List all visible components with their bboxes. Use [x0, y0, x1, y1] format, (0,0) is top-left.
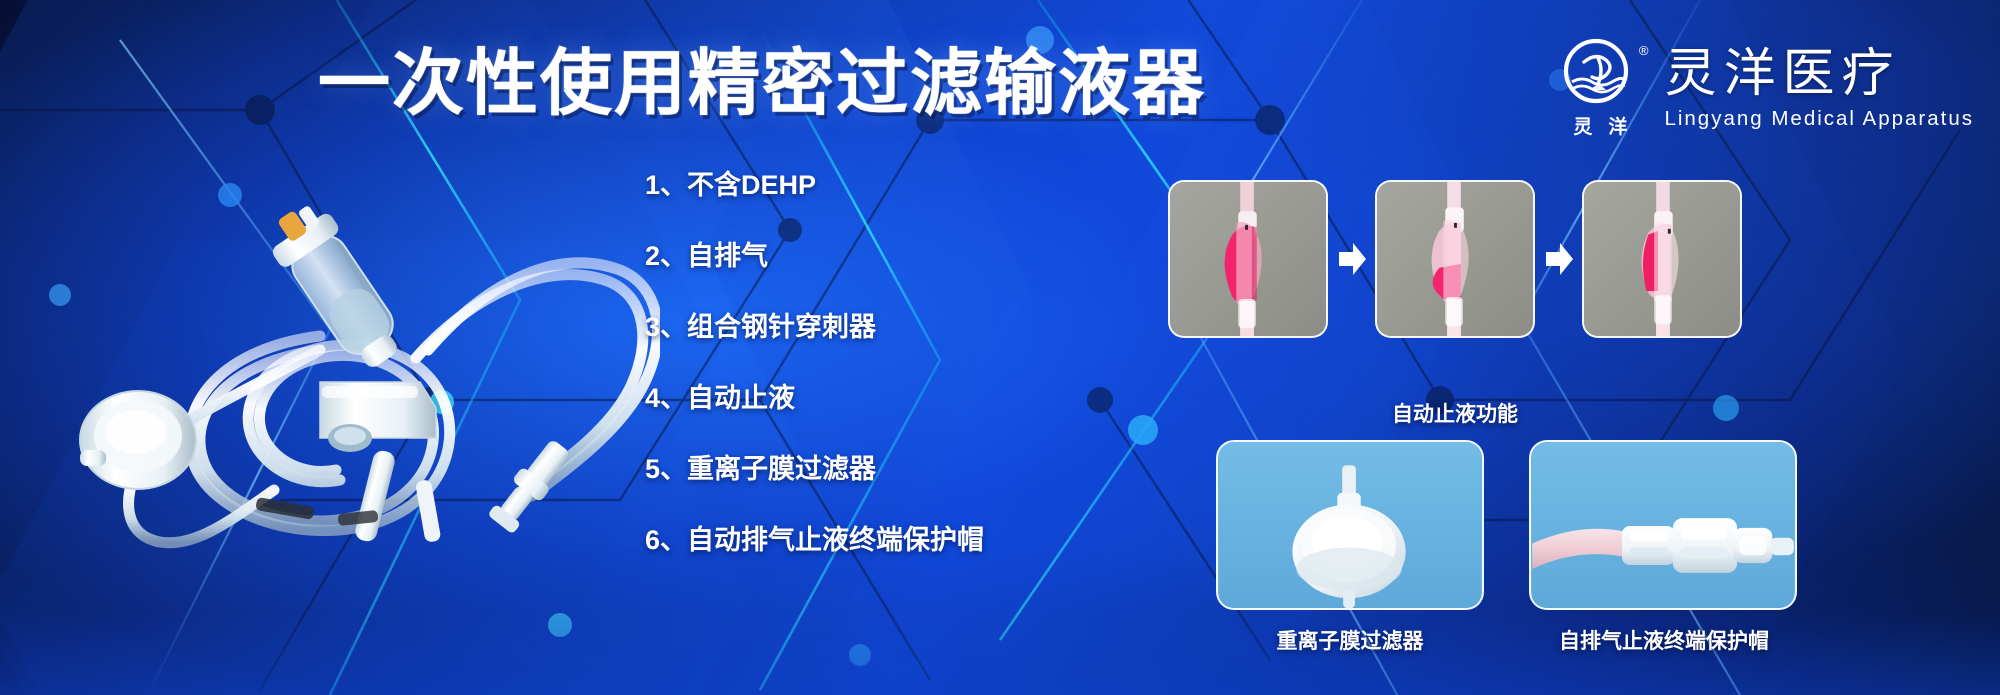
- brand-logo: ® 灵洋 灵洋医疗 Lingyang Medical Apparatus: [1554, 38, 1974, 139]
- wave-circle-icon: [1554, 38, 1646, 104]
- feature-item: 6、自动排气止液终端保护帽: [645, 527, 975, 554]
- filter-disc: [80, 391, 196, 489]
- caption-terminal-protection-cap: 自排气止液终端保护帽: [1559, 625, 1769, 655]
- roller-clamp: [320, 382, 436, 452]
- drip-chamber: [259, 194, 415, 379]
- photo-ion-membrane-filter: [1216, 440, 1484, 610]
- arrow-right-icon: [1535, 242, 1582, 276]
- brand-name-block: 灵洋医疗 Lingyang Medical Apparatus: [1664, 48, 1974, 130]
- hero-product-photo: [20, 150, 660, 550]
- brand-name-cn: 灵洋医疗: [1664, 48, 1974, 100]
- product-banner: 一次性使用精密过滤输液器 ® 灵洋 灵洋医疗 Lingyang Medical …: [0, 0, 2000, 695]
- auto-stop-photo-sequence: [1168, 180, 1742, 338]
- caption-auto-stop: 自动止液功能: [1392, 398, 1518, 428]
- photo-terminal-protection-cap: [1529, 440, 1797, 610]
- arrow-right-icon: [1328, 242, 1375, 276]
- feature-item: 3、组合钢针穿刺器: [645, 314, 975, 341]
- feature-item: 2、自排气: [645, 243, 975, 270]
- photo-auto-stop-step-2: [1375, 180, 1535, 338]
- needle-protector: [255, 449, 441, 544]
- photo-auto-stop-step-1: [1168, 180, 1328, 338]
- feature-item: 4、自动止液: [645, 385, 975, 412]
- y-connector: [486, 435, 576, 536]
- feature-item: 5、重离子膜过滤器: [645, 456, 975, 483]
- feature-list: 1、不含DEHP 2、自排气 3、组合钢针穿刺器 4、自动止液 5、重离子膜过滤…: [645, 172, 975, 554]
- logo-emblem-subtext: 灵洋: [1554, 112, 1646, 139]
- logo-emblem: ® 灵洋: [1554, 38, 1646, 139]
- registered-trademark-icon: ®: [1639, 44, 1649, 57]
- feature-item: 1、不含DEHP: [645, 172, 975, 199]
- caption-ion-membrane-filter: 重离子膜过滤器: [1277, 625, 1424, 655]
- brand-name-en: Lingyang Medical Apparatus: [1664, 109, 1974, 130]
- photo-auto-stop-step-3: [1582, 180, 1742, 338]
- detail-photo-row: [1216, 440, 1797, 610]
- page-title: 一次性使用精密过滤输液器: [318, 48, 1206, 120]
